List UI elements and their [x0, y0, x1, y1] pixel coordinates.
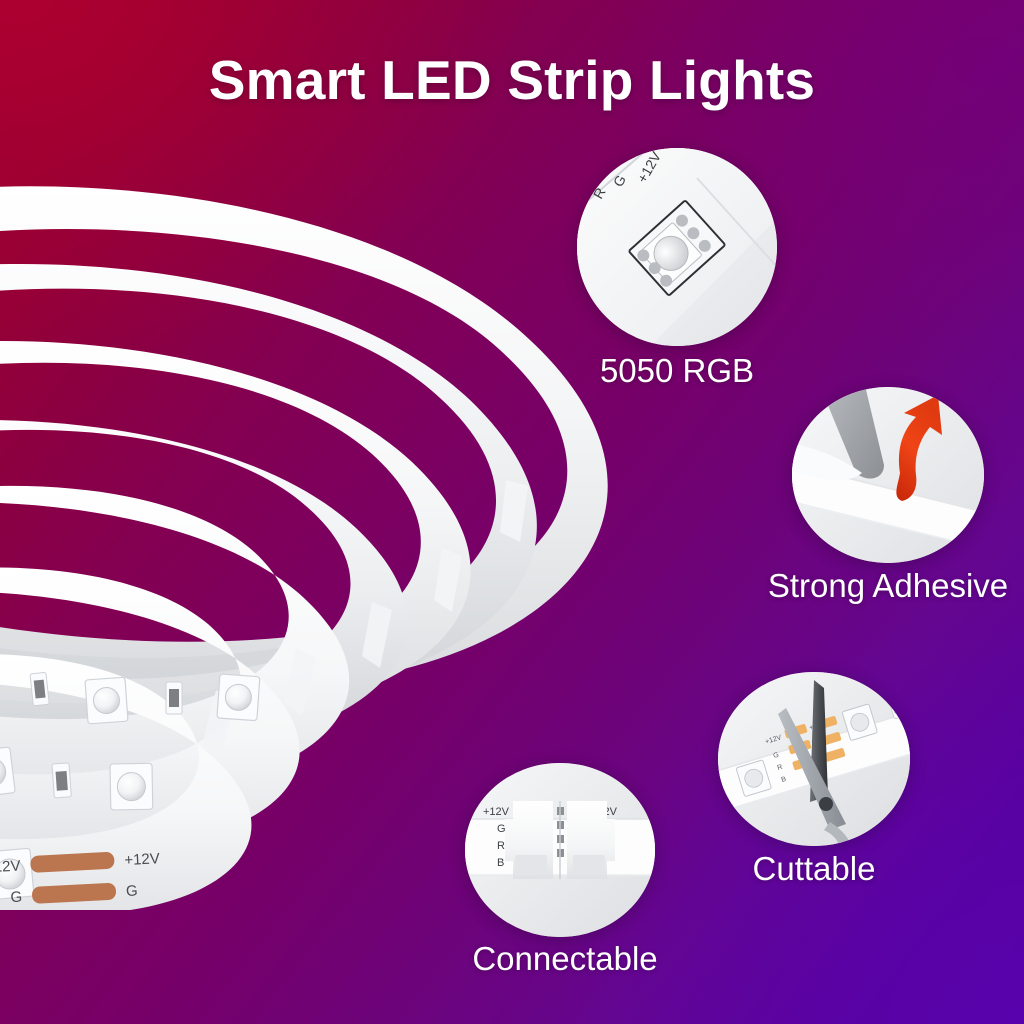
pad-label-left-r: R: [497, 840, 505, 852]
callout-cuttable-label: Cuttable: [714, 850, 914, 888]
svg-text:+12V: +12V: [0, 858, 21, 877]
pad-label-left-12v: +12V: [483, 806, 510, 818]
pad-label-left-b: B: [497, 857, 504, 869]
svg-text:+12V: +12V: [124, 850, 160, 869]
callout-strong-adhesive-label: Strong Adhesive: [762, 567, 1014, 605]
scissors-cut-illustration: +12V G R B +12V G B: [718, 672, 910, 846]
connector-illustration: +12V G R B +12V G R B: [465, 763, 655, 937]
callout-5050-rgb-label: 5050 RGB: [577, 352, 777, 390]
callout-5050-rgb-circle: +12V G R: [577, 148, 777, 346]
callout-connectable-label: Connectable: [440, 940, 690, 978]
page-title: Smart LED Strip Lights: [0, 52, 1024, 110]
pad-label-left-g: G: [497, 823, 506, 835]
callout-connectable-circle: +12V G R B +12V G R B: [465, 763, 655, 937]
svg-text:G: G: [10, 888, 23, 906]
callout-strong-adhesive-circle: [792, 387, 984, 563]
svg-text:G: G: [126, 882, 139, 900]
callout-cuttable-circle: +12V G R B +12V G B: [718, 672, 910, 846]
product-image-canvas: +12V G R +12V G R +12V G R B: [0, 0, 1024, 1024]
led-chip-closeup-illustration: +12V G R: [577, 148, 777, 346]
adhesive-peel-illustration: [792, 387, 984, 563]
